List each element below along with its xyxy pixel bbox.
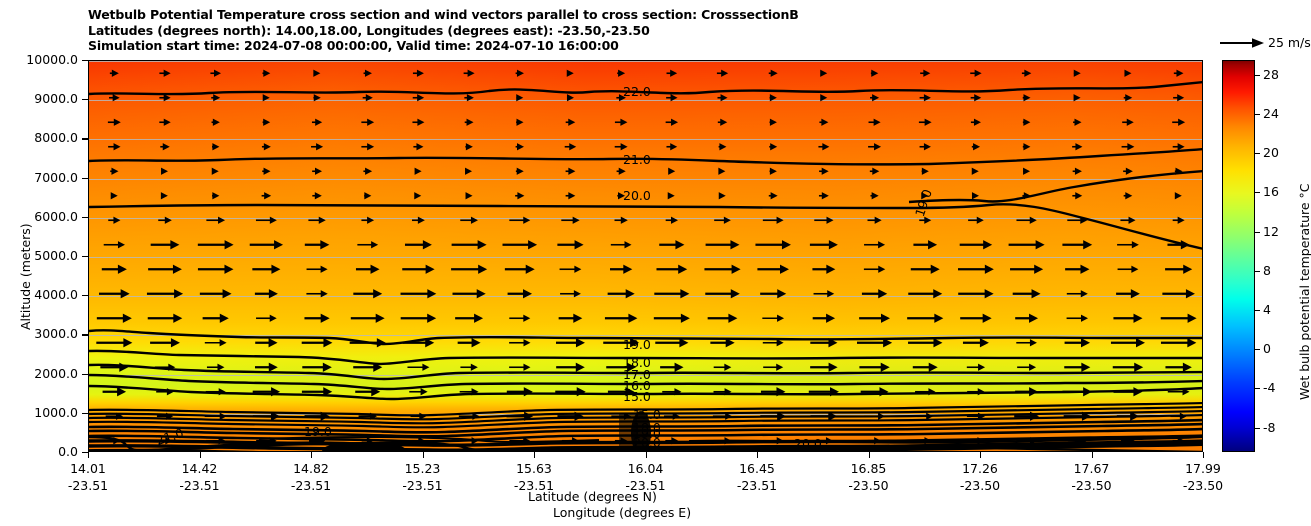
wind-vector-arrow: [1165, 363, 1191, 372]
wind-vector-arrow: [460, 388, 479, 395]
wind-vector-arrow: [763, 339, 784, 346]
x-axis-tick-label-latitude: 15.63: [494, 461, 574, 476]
contour-label: 20.0: [623, 190, 651, 202]
wind-vector-arrow: [1023, 94, 1031, 101]
title-line-3: Simulation start time: 2024-07-08 00:00:…: [88, 38, 799, 54]
wind-vector-arrow: [355, 387, 380, 396]
x-axis-title-latitude: Latitude (degrees N): [528, 489, 657, 504]
wind-vector-arrow: [714, 437, 732, 444]
wind-vector-arrow: [1073, 119, 1081, 126]
wind-vector-arrow: [761, 387, 786, 396]
x-axis-tick-label-latitude: 16.85: [829, 461, 909, 476]
wind-vector-arrow: [515, 192, 524, 199]
wind-vector-arrow: [662, 388, 681, 395]
x-axis-tick: [646, 452, 647, 458]
wind-vector-arrow: [108, 119, 121, 126]
wind-vector-arrow: [718, 168, 725, 175]
colorbar-tick-label: 20: [1263, 145, 1279, 160]
wind-vector-arrow: [1014, 412, 1039, 421]
colorbar[interactable]: [1222, 60, 1255, 452]
wind-vector-arrow: [1175, 192, 1182, 199]
wind-vector-arrow: [509, 437, 530, 444]
wind-vector-arrow: [453, 289, 486, 298]
wind-vector-arrow: [920, 143, 931, 150]
wind-vector-arrow: [361, 217, 374, 224]
wind-vector-arrow: [566, 119, 576, 126]
wind-vector-arrow: [667, 70, 678, 77]
y-axis-tick: [82, 178, 88, 179]
wind-vector-arrow: [972, 143, 980, 150]
wind-vector-arrow: [302, 338, 333, 347]
x-axis-tick: [980, 452, 981, 458]
wind-vector-arrow: [654, 289, 689, 298]
wind-vector-arrow: [262, 192, 272, 199]
wind-vector-arrow: [608, 289, 635, 298]
wind-vector-arrow: [968, 217, 984, 224]
wind-vector-arrow: [1168, 388, 1190, 395]
wind-vector-arrow: [256, 315, 277, 322]
wind-vector-arrow: [857, 338, 892, 347]
wind-vector-arrow: [104, 241, 125, 248]
wind-vector-arrow: [357, 241, 378, 248]
colorbar-tick: [1255, 271, 1260, 272]
wind-vector-arrow: [161, 168, 168, 175]
wind-vector-arrow: [206, 388, 226, 395]
wind-vector-arrow: [615, 143, 628, 150]
wind-vector-arrow: [253, 412, 280, 421]
wind-vector-arrow: [363, 168, 372, 175]
y-axis-tick-label: 1000.0: [0, 405, 78, 420]
wind-vector-arrow: [1064, 363, 1090, 372]
wind-vector-arrow: [205, 413, 227, 420]
y-axis-tick-label: 7000.0: [0, 170, 78, 185]
wind-vector-arrow: [363, 94, 373, 101]
wind-vector-arrow: [516, 143, 524, 150]
wind-vector-arrow: [159, 94, 170, 101]
x-axis-tick: [1092, 452, 1093, 458]
wind-vector-arrow: [109, 94, 120, 101]
y-axis-tick-label: 0.0: [0, 444, 78, 459]
wind-vector-arrow: [859, 314, 890, 323]
colorbar-title: Wet bulb potential temperature °C: [1297, 183, 1311, 400]
wind-vector-arrow: [464, 70, 475, 77]
wind-vector-arrow: [212, 119, 220, 126]
x-axis-tick: [311, 452, 312, 458]
wind-vector-arrow: [1117, 412, 1139, 421]
contour-label: 21.0: [623, 154, 651, 166]
wind-vector-arrow: [210, 70, 221, 77]
wind-vector-arrow: [864, 266, 885, 273]
wind-vector-arrow: [958, 289, 993, 298]
wind-vector-arrow: [516, 70, 524, 77]
y-axis-tick: [82, 334, 88, 335]
wind-vector-arrow: [110, 70, 119, 77]
wind-vector-arrow: [1064, 412, 1091, 421]
wind-vector-arrow: [820, 70, 827, 77]
wind-vector-arrow: [967, 437, 984, 444]
wind-vector-arrow: [668, 168, 675, 175]
wind-vector-arrow: [813, 314, 835, 323]
wind-vector-arrow: [1017, 364, 1036, 371]
wind-vector-arrow: [762, 315, 784, 322]
wind-vector-arrow: [819, 192, 829, 199]
wind-vector-arrow: [559, 314, 583, 323]
wind-vector-arrow: [769, 70, 778, 77]
x-axis-tick: [1203, 452, 1204, 458]
wind-vector-arrow: [913, 363, 938, 372]
wind-vector-arrow: [159, 70, 170, 77]
quiver-key: 25 m/s: [1218, 33, 1310, 53]
wind-vector-arrow: [763, 217, 784, 224]
wind-vector-arrow: [200, 289, 232, 298]
wind-vector-arrow: [1072, 143, 1082, 150]
colorbar-tick: [1255, 428, 1260, 429]
wind-vector-arrow: [516, 119, 523, 126]
wind-vector-arrow: [666, 94, 677, 101]
y-axis-tick-label: 10000.0: [0, 52, 78, 67]
wind-vector-arrow: [769, 143, 777, 150]
wind-vector-arrow: [356, 265, 380, 274]
wind-vector-arrow: [1117, 241, 1139, 248]
wind-vector-arrow: [312, 168, 322, 175]
wind-vector-arrow: [509, 315, 530, 322]
wind-vector-arrow: [1023, 119, 1031, 126]
figure-title: Wetbulb Potential Temperature cross sect…: [88, 7, 799, 54]
wind-vector-arrow: [1175, 168, 1183, 175]
wind-vector-arrow: [871, 70, 878, 77]
wind-vector-arrow: [405, 240, 432, 249]
wind-vector-arrow: [361, 143, 374, 150]
y-axis-tick: [82, 374, 88, 375]
wind-vector-arrow: [864, 413, 885, 420]
y-axis-tick-label: 5000.0: [0, 248, 78, 263]
wind-vector-arrow: [465, 143, 473, 150]
wind-vector-arrow: [755, 240, 791, 249]
wind-vector-arrow: [970, 70, 981, 77]
wind-vector-arrow: [263, 94, 270, 101]
wind-vector-arrow: [555, 387, 585, 396]
x-axis-tick-label-longitude: -23.51: [717, 478, 797, 493]
wind-vector-arrow: [1165, 265, 1192, 274]
wind-vector-arrow: [560, 266, 582, 273]
x-axis-tick-label-longitude: -23.51: [271, 478, 351, 493]
x-axis-title-longitude: Longitude (degrees E): [553, 505, 691, 520]
wind-vector-arrow: [967, 413, 985, 420]
wind-vector-arrow: [1170, 413, 1186, 420]
wind-vector-arrow: [305, 412, 330, 421]
colorbar-tick: [1255, 192, 1260, 193]
wind-vector-arrow: [666, 119, 678, 126]
wind-vector-arrow: [203, 314, 229, 323]
wind-vector-arrow: [770, 168, 777, 175]
wind-vector-arrow: [206, 437, 226, 444]
colorbar-tick-label: 8: [1263, 263, 1271, 278]
wind-vector-arrow: [1067, 290, 1088, 297]
wind-vector-arrow: [718, 119, 727, 126]
wind-vector-arrow: [1173, 217, 1185, 224]
wind-vector-arrow: [1111, 338, 1145, 347]
wind-vector-arrow: [1114, 387, 1143, 396]
colorbar-tick: [1255, 232, 1260, 233]
wind-vector-arrow: [870, 192, 878, 199]
wind-vector-arrow: [706, 240, 740, 249]
wind-vector-arrow: [714, 217, 731, 224]
wind-vector-arrow: [256, 437, 277, 444]
wind-vector-arrow: [1124, 94, 1132, 101]
wind-vector-arrow: [615, 437, 628, 444]
wind-vector-arrow: [809, 387, 839, 396]
wind-vector-arrow: [611, 241, 632, 248]
wind-vector-arrow: [908, 338, 942, 347]
wind-vector-arrow: [769, 192, 778, 199]
wind-vector-arrow: [1062, 240, 1092, 249]
wind-vector-arrow: [960, 240, 992, 249]
wind-vector-arrow: [617, 70, 625, 77]
wind-vector-arrow: [907, 314, 943, 323]
wind-vector-arrow: [111, 192, 118, 199]
y-axis-tick-label: 6000.0: [0, 209, 78, 224]
wind-vector-arrow: [562, 437, 579, 444]
x-axis-tick-label-longitude: -23.51: [160, 478, 240, 493]
wind-vector-arrow: [353, 363, 382, 372]
wind-vector-arrow: [1010, 265, 1043, 274]
quiver-key-label: 25 m/s: [1268, 35, 1311, 50]
wind-vector-arrow: [516, 168, 524, 175]
wind-vector-arrow: [108, 143, 120, 150]
wind-vector-arrow: [407, 364, 429, 371]
wind-vector-arrow: [760, 412, 786, 421]
wind-vector-arrow: [108, 437, 120, 444]
wind-vector-arrow: [971, 119, 981, 126]
wind-vector-arrow: [1016, 217, 1036, 224]
colorbar-tick-label: 0: [1263, 341, 1271, 356]
wind-vector-arrow: [915, 388, 935, 395]
wind-vector-arrow: [617, 168, 626, 175]
wind-vector-arrow: [1113, 363, 1143, 372]
wind-vector-arrow: [717, 70, 728, 77]
wind-vector-arrow: [403, 338, 435, 347]
wind-vector-arrow: [565, 143, 577, 150]
wind-vector-arrow: [103, 387, 127, 396]
wind-vector-arrow: [713, 388, 731, 395]
wind-vector-arrow: [868, 437, 881, 444]
wind-vector-arrow: [411, 413, 427, 420]
wind-vector-arrow: [1009, 240, 1045, 249]
wind-vector-arrow: [256, 217, 277, 224]
title-line-2: Latitudes (degrees north): 14.00,18.00, …: [88, 23, 799, 39]
wind-vector-arrow: [311, 143, 323, 150]
wind-vector-arrow: [1161, 338, 1196, 347]
y-axis-tick: [82, 138, 88, 139]
wind-vector-arrow: [160, 143, 169, 150]
wind-vector-arrow: [413, 143, 423, 150]
wind-vector-arrow: [917, 413, 933, 420]
colorbar-tick: [1255, 114, 1260, 115]
wind-vector-arrow: [920, 70, 930, 77]
x-axis-tick-label-longitude: -23.50: [1052, 478, 1132, 493]
wind-vector-arrow: [1023, 143, 1031, 150]
x-axis-tick-label-longitude: -23.51: [383, 478, 463, 493]
wind-vector-arrow: [713, 413, 732, 420]
wind-vector-arrow: [412, 437, 426, 444]
wind-vector-arrow: [1122, 119, 1134, 126]
contour-label: 19.0: [304, 426, 332, 438]
contour-label: 20.0: [794, 438, 822, 450]
wind-vector-arrow: [812, 265, 835, 274]
x-axis-tick: [423, 452, 424, 458]
wind-vector-arrow: [364, 192, 371, 199]
wind-vector-arrow: [212, 143, 219, 150]
wind-vector-arrow: [1074, 70, 1081, 77]
arrow-right-icon: [1218, 33, 1268, 53]
x-axis-tick: [869, 452, 870, 458]
wind-vector-arrow: [1016, 437, 1037, 444]
wind-vector-arrow: [159, 119, 170, 126]
wind-vector-arrow: [412, 119, 424, 126]
wind-vector-arrow: [506, 412, 533, 421]
wind-vector-arrow: [1118, 266, 1139, 273]
wind-vector-arrow: [605, 314, 637, 323]
x-axis-tick-label-longitude: -23.50: [940, 478, 1020, 493]
wind-vector-arrow: [770, 94, 777, 101]
wind-vector-arrow: [920, 94, 931, 101]
wind-vector-arrow: [362, 437, 374, 444]
wind-vector-arrow: [307, 266, 328, 273]
wind-vector-arrow: [666, 143, 677, 150]
wind-vector-arrow: [255, 363, 278, 372]
wind-vector-arrow: [212, 168, 219, 175]
x-axis-tick-label-latitude: 16.04: [606, 461, 686, 476]
wind-vector-arrow: [659, 240, 684, 249]
wind-vector-arrow: [1122, 143, 1135, 150]
wind-vector-arrow: [913, 240, 937, 249]
wind-vector-arrow: [409, 388, 427, 395]
wind-vector-arrow: [810, 412, 837, 421]
colorbar-tick-label: 12: [1263, 224, 1279, 239]
wind-vector-arrow: [451, 265, 487, 274]
wind-vector-arrow: [714, 364, 732, 371]
wind-vector-arrow: [556, 338, 585, 347]
wind-vector-arrow: [412, 217, 425, 224]
wind-vector-arrow: [1022, 70, 1031, 77]
wind-vector-arrow: [359, 413, 377, 420]
wind-vector-arrow: [452, 240, 487, 249]
wind-vector-arrow: [1172, 119, 1185, 126]
y-axis-tick-label: 3000.0: [0, 326, 78, 341]
wind-vector-arrow: [1173, 143, 1185, 150]
wind-vector-arrow: [150, 338, 180, 347]
x-axis-tick-label-latitude: 17.26: [940, 461, 1020, 476]
wind-vector-arrow: [415, 168, 422, 175]
wind-vector-arrow: [205, 339, 227, 346]
wind-vector-arrow: [971, 94, 982, 101]
wind-vector-arrow: [155, 364, 176, 371]
y-axis-title: Altitude (meters): [18, 223, 33, 330]
wind-vector-arrow: [253, 387, 280, 396]
wind-vector-arrow: [958, 265, 994, 274]
wind-vector-arrow: [615, 119, 627, 126]
x-axis-tick-label-latitude: 17.99: [1163, 461, 1243, 476]
wind-vector-arrow: [361, 119, 374, 126]
wind-vector-arrow: [460, 364, 477, 371]
wind-vector-arrow: [263, 119, 271, 126]
wind-vector-arrow: [861, 387, 889, 396]
wind-vector-arrow: [110, 168, 118, 175]
wind-vector-arrow: [306, 290, 327, 297]
wind-vector-arrow: [1013, 289, 1041, 298]
wind-vector-arrow: [870, 168, 879, 175]
y-axis-tick-label: 4000.0: [0, 287, 78, 302]
wind-vector-arrow: [664, 413, 680, 420]
wind-vector-arrow: [556, 363, 585, 372]
wind-vector-arrow: [161, 192, 168, 199]
wind-vector-arrow: [1022, 192, 1030, 199]
wind-vector-arrow: [466, 192, 473, 199]
wind-vector-arrow: [508, 289, 532, 298]
cross-section-plot[interactable]: 22.021.020.019.018.017.016.015.015.018.0…: [88, 60, 1203, 452]
contour-label: 19.0: [623, 339, 651, 351]
wind-vector-arrow: [262, 168, 270, 175]
wind-vector-arrow: [1067, 217, 1087, 224]
wind-vector-arrow: [207, 364, 225, 371]
wind-vector-arrow: [505, 265, 535, 274]
wind-vector-arrow: [1162, 289, 1195, 298]
wind-vector-arrow: [819, 168, 829, 175]
wind-vector-arrow: [870, 94, 879, 101]
colorbar-tick-label: 16: [1263, 184, 1279, 199]
wind-vector-arrow: [198, 265, 234, 274]
wind-vector-arrow: [820, 94, 827, 101]
wind-vector-arrow: [1161, 314, 1197, 323]
colorbar-tick: [1255, 388, 1260, 389]
wind-vector-arrow: [1167, 240, 1189, 249]
wind-vector-arrow: [460, 437, 479, 444]
wind-vector-arrow: [810, 240, 838, 249]
wind-vector-arrow: [401, 314, 436, 323]
wind-vector-arrow: [262, 70, 270, 77]
x-axis-tick-label-latitude: 17.67: [1052, 461, 1132, 476]
colorbar-tick: [1255, 310, 1260, 311]
colorbar-tick-label: -4: [1263, 380, 1275, 395]
wind-vector-arrow: [919, 119, 932, 126]
y-axis-tick-label: 9000.0: [0, 91, 78, 106]
wind-vector-arrow: [509, 339, 530, 346]
wind-vector-arrow: [818, 143, 829, 150]
wind-vector-arrow: [710, 338, 734, 347]
wind-vector-arrow: [1113, 314, 1142, 323]
wind-vector-arrow: [96, 338, 132, 347]
wind-vector-arrow: [611, 413, 631, 420]
wind-vector-arrow: [255, 289, 278, 298]
wind-vector-arrow: [364, 70, 372, 77]
wind-vector-arrow: [769, 119, 776, 126]
wind-vector-arrow: [465, 119, 474, 126]
wind-vector-arrow: [1015, 314, 1038, 323]
wind-vector-arrow: [503, 240, 538, 249]
y-axis-tick-label: 2000.0: [0, 366, 78, 381]
wind-vector-arrow: [719, 192, 726, 199]
wind-vector-arrow: [566, 168, 576, 175]
wind-vector-arrow: [963, 338, 989, 347]
wind-vector-arrow: [313, 70, 320, 77]
wind-vector-arrow: [705, 289, 740, 298]
wind-vector-arrow: [1067, 315, 1088, 322]
wind-vector-arrow: [148, 314, 183, 323]
wind-vector-arrow: [148, 265, 182, 274]
wind-vector-arrow: [255, 338, 277, 347]
wind-vector-arrow: [464, 94, 474, 101]
wind-vector-arrow: [212, 192, 219, 199]
